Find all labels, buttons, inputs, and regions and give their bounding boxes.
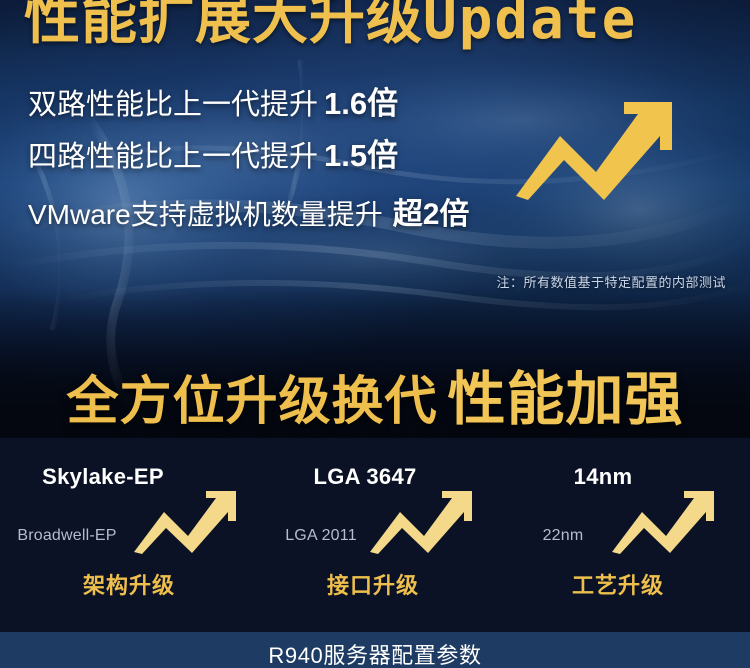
bullet-text: 双路性能比上一代提升 [28,89,318,121]
poster-title: 性能扩展大升级Update [24,0,730,56]
bullet-item: VMware支持虚拟机数量提升超2倍 [28,200,469,230]
bullet-text: VMware支持虚拟机数量提升 [28,199,383,230]
upgrade-tag: 接口升级 [248,568,498,600]
bullet-item: 四路性能比上一代提升1.5倍 [28,140,469,172]
upgrade-tag: 工艺升级 [493,568,743,600]
upgrade-new-value: Skylake-EP [0,464,228,490]
trend-up-arrow-icon [610,490,726,554]
headline-part-b: 性能加强 [448,367,684,432]
upgrade-columns: Skylake-EP Broadwell-EP 架构升级 LGA 3647 LG… [0,438,750,632]
trend-up-arrow-icon [512,100,692,200]
bullet-item: 双路性能比上一代提升1.6倍 [28,88,469,120]
bullet-emphasis: 1.5倍 [324,138,398,173]
poster-title-cn: 性能扩展大升级 [24,0,423,50]
section-headline: 全方位升级换代性能加强 [0,352,750,436]
poster-title-en: Update [423,0,637,52]
headline-part-a: 全方位升级换代 [66,373,437,431]
hero-bullet-list: 双路性能比上一代提升1.6倍 四路性能比上一代提升1.5倍 VMware支持虚拟… [28,88,469,230]
promo-poster: 性能扩展大升级Update 双路性能比上一代提升1.6倍 四路性能比上一代提升1… [0,0,750,668]
upgrade-tag: 架构升级 [4,568,254,600]
footnote-text: 注：所有数值基于特定配置的内部测试 [496,272,726,291]
bottom-bar-label: R940服务器配置参数 [0,638,750,668]
upgrade-column-process: 14nm 22nm 工艺升级 [500,438,750,632]
bottom-section-bar: R940服务器配置参数 [0,632,750,668]
bullet-text: 四路性能比上一代提升 [28,141,318,173]
upgrade-new-value: 14nm [478,464,728,490]
bullet-emphasis: 1.6倍 [324,86,398,121]
upgrade-new-value: LGA 3647 [240,464,490,490]
bullet-emphasis: 超2倍 [393,198,470,231]
